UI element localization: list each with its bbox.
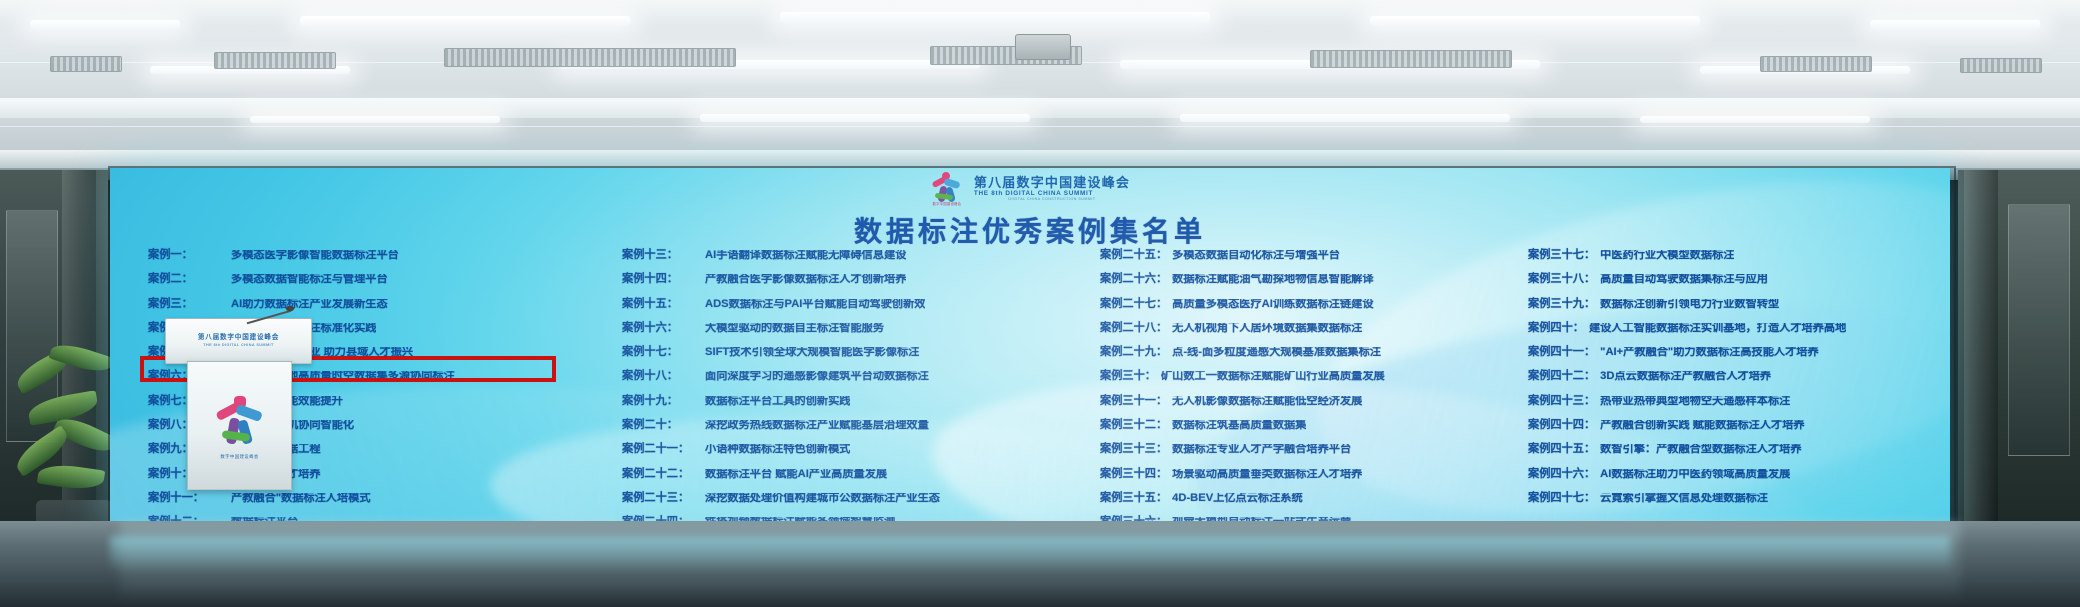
- case-title: SIFT技术引领全球大规模智能医学影像标注: [705, 347, 919, 358]
- case-number: 案例四十二：: [1528, 371, 1595, 382]
- case-title: 数据标注专业人才产学融合培养平台: [1172, 444, 1351, 455]
- case-number: 案例三十三：: [1100, 444, 1167, 455]
- case-number: 案例二十七：: [1100, 299, 1167, 310]
- case-row: 案例二十：深挖政务热线数据标注产业赋能基层治理效量: [622, 420, 1092, 444]
- case-row: 案例三十九：数据标注创新引领电力行业数智转型: [1528, 299, 1948, 323]
- podium: 第八届数字中国建设峰会 THE 8th DIGITAL CHINA SUMMIT…: [165, 318, 310, 488]
- ceiling-light: [780, 12, 1210, 23]
- case-number: 案例十一：: [148, 493, 226, 504]
- case-row: 案例十三：AI手语翻译数据标注赋能无障碍信息建设: [622, 250, 1092, 274]
- plant-leaf: [37, 462, 105, 493]
- case-title: 产教融合医学影像数据标注人才创新培养: [705, 274, 906, 285]
- case-row: 案例四十五：数智引擎：产教融合型数据标注人才培养: [1528, 444, 1948, 468]
- ceiling-vent: [444, 48, 736, 67]
- case-row: 案例二十九：点-线-面多粒度遥感大规模基准数据集标注: [1100, 347, 1520, 371]
- wall-panel: [2008, 204, 2070, 456]
- case-row: 案例二十八：无人机视角下人居环境数据集数据标注: [1100, 323, 1520, 347]
- case-number: 案例二十九：: [1100, 347, 1167, 358]
- case-list: 案例一：多模态医学影像智能数据标注平台案例二：多模态数据智能标注与管理平台案例三…: [110, 250, 1950, 536]
- case-number: 案例二十二：: [622, 469, 700, 480]
- case-row: 案例十七：SIFT技术引领全球大规模智能医学影像标注: [622, 347, 1092, 371]
- case-column-4: 案例三十七：中医药行业大模型数据标注案例三十八：高质量自动驾驶数据集标注与应用案…: [1528, 250, 1948, 517]
- case-number: 案例三十一：: [1100, 396, 1167, 407]
- ceiling-speaker: [1015, 34, 1071, 60]
- case-row: 案例三十一：无人机影像数据标注赋能低空经济发展: [1100, 396, 1520, 420]
- podium-title-cn: 第八届数字中国建设峰会: [166, 331, 311, 341]
- case-title: 多模态医学影像智能数据标注平台: [231, 250, 399, 261]
- case-title: 数据标注平台 赋能AI产业高质量发展: [705, 469, 887, 480]
- case-title: 数据标注创新引领电力行业数智转型: [1600, 299, 1779, 310]
- ceiling-vent: [1960, 58, 2042, 73]
- case-column-3: 案例二十五：多模态数据自动化标注与增强平台案例二十六：数据标注赋能油气勘探地物信…: [1100, 250, 1520, 538]
- case-title: 无人机影像数据标注赋能低空经济发展: [1172, 396, 1362, 407]
- case-title: 产教融合"数据标注人培模式: [231, 493, 371, 504]
- ceiling-light: [1180, 114, 1510, 122]
- case-number: 案例十四：: [622, 274, 700, 285]
- case-number: 案例四十五：: [1528, 444, 1595, 455]
- ceiling-light: [30, 20, 180, 29]
- case-title: 矿山数工一数据标注赋能矿山行业高质量发展: [1161, 371, 1385, 382]
- case-row: 案例三十四：场景驱动高质量垂类数据标注人才培养: [1100, 469, 1520, 493]
- ceiling-light: [1640, 116, 1870, 123]
- case-row: 案例二十五：多模态数据自动化标注与增强平台: [1100, 250, 1520, 274]
- case-number: 案例三十七：: [1528, 250, 1595, 261]
- case-row: 案例十六：大模型驱动的数据自主标注智能服务: [622, 323, 1092, 347]
- case-number: 案例一：: [148, 250, 226, 261]
- case-title: 场景驱动高质量垂类数据标注人才培养: [1172, 469, 1362, 480]
- summit-title-en: THE 8th DIGITAL CHINA SUMMIT: [974, 191, 1130, 198]
- case-title: 大模型驱动的数据自主标注智能服务: [705, 323, 884, 334]
- case-number: 案例十八：: [622, 371, 700, 382]
- case-row: 案例十五：ADS数据标注与PAI平台赋能自动驾驶创新效: [622, 299, 1092, 323]
- case-number: 案例三：: [148, 299, 226, 310]
- case-number: 案例二十一：: [622, 444, 700, 455]
- led-screen: 数字中国建设峰会 第八届数字中国建设峰会 THE 8th DIGITAL CHI…: [110, 168, 1950, 538]
- case-number: 案例十五：: [622, 299, 700, 310]
- digital-china-summit-logo-icon: 数字中国建设峰会: [930, 172, 964, 206]
- logo-caption: 数字中国建设峰会: [929, 201, 965, 206]
- case-number: 案例四十：: [1528, 323, 1584, 334]
- case-row: 案例二：多模态数据智能标注与管理平台: [148, 274, 568, 298]
- case-number: 案例二：: [148, 274, 226, 285]
- case-number: 案例三十四：: [1100, 469, 1167, 480]
- ceiling-vent: [50, 56, 122, 72]
- case-title: 3D点云数据标注产教融合人才培养: [1600, 371, 1771, 382]
- screen-floor-reflection: [110, 536, 1950, 572]
- case-row: 案例十四：产教融合医学影像数据标注人才创新培养: [622, 274, 1092, 298]
- case-row: 案例三十：矿山数工一数据标注赋能矿山行业高质量发展: [1100, 371, 1520, 395]
- ceiling-vent: [1760, 56, 1872, 72]
- case-row: 案例四十：建设人工智能数据标注实训基地，打造人才培养高地: [1528, 323, 1948, 347]
- case-row: 案例四十三：热带亚热带典型地物空天遥感样本标注: [1528, 396, 1948, 420]
- page-title: 数据标注优秀案例集名单: [110, 210, 1950, 250]
- case-title: 小语种数据标注特色创新模式: [705, 444, 850, 455]
- ceiling-vent: [214, 52, 336, 69]
- podium-emblem-caption: 数字中国建设峰会: [188, 454, 291, 460]
- case-title: 面向深度学习的遥感影像建筑平台动数据标注: [705, 371, 929, 382]
- case-number: 案例十七：: [622, 347, 700, 358]
- case-row: 案例四十一："AI+产教融合"助力数据标注高技能人才培养: [1528, 347, 1948, 371]
- podium-title-en: THE 8th DIGITAL CHINA SUMMIT: [166, 343, 311, 347]
- case-title: 数据标注赋能油气勘探地物信息智能解译: [1172, 274, 1373, 285]
- case-row: 案例二十二：数据标注平台 赋能AI产业高质量发展: [622, 469, 1092, 493]
- case-title: 产教融合创新实践 赋能数据标注人才培养: [1600, 420, 1804, 431]
- case-number: 案例四十三：: [1528, 396, 1595, 407]
- case-title: AI数据标注助力中医药领域高质量发展: [1600, 469, 1790, 480]
- ceiling-panel-line: [0, 126, 2080, 127]
- microphone: [246, 300, 296, 326]
- case-row: 案例二十一：小语种数据标注特色创新模式: [622, 444, 1092, 468]
- ceiling-light: [300, 16, 630, 26]
- case-column-2: 案例十三：AI手语翻译数据标注赋能无障碍信息建设案例十四：产教融合医学影像数据标…: [622, 250, 1092, 538]
- case-number: 案例十六：: [622, 323, 700, 334]
- case-row: 案例四十四：产教融合创新实践 赋能数据标注人才培养: [1528, 420, 1948, 444]
- case-title: 数据标注平台工具的创新实践: [705, 396, 850, 407]
- case-row: 案例四十六：AI数据标注助力中医药领域高质量发展: [1528, 469, 1948, 493]
- case-title: 热带亚热带典型地物空天遥感样本标注: [1600, 396, 1790, 407]
- ceiling-vent: [1310, 50, 1512, 68]
- microphone-head: [286, 306, 294, 311]
- case-row: 案例二十三：深挖数据处理价值构建城市公数据标注产业生态: [622, 493, 1092, 517]
- case-title: 数据标注筑基高质量数据集: [1172, 420, 1306, 431]
- case-number: 案例二十五：: [1100, 250, 1167, 261]
- ceiling-band-mid: [0, 98, 2080, 118]
- summit-title-cn: 第八届数字中国建设峰会: [974, 176, 1130, 190]
- case-row: 案例三十七：中医药行业大模型数据标注: [1528, 250, 1948, 274]
- case-row: 案例十九：数据标注平台工具的创新实践: [622, 396, 1092, 420]
- case-row: 案例二十六：数据标注赋能油气勘探地物信息智能解译: [1100, 274, 1520, 298]
- case-title: 多模态数据自动化标注与增强平台: [1172, 250, 1340, 261]
- case-title: 多模态数据智能标注与管理平台: [231, 274, 388, 285]
- case-title: "AI+产教融合"助力数据标注高技能人才培养: [1600, 347, 1819, 358]
- case-number: 案例四十一：: [1528, 347, 1595, 358]
- case-title: AI手语翻译数据标注赋能无障碍信息建设: [705, 250, 906, 261]
- case-number: 案例三十五：: [1100, 493, 1167, 504]
- case-number: 案例二十：: [622, 420, 700, 431]
- summit-wordmark: 第八届数字中国建设峰会 THE 8th DIGITAL CHINA SUMMIT…: [974, 176, 1130, 202]
- case-title: 深挖数据处理价值构建城市公数据标注产业生态: [705, 493, 940, 504]
- case-title: 云霓索引掌握文信息处理数据标注: [1600, 493, 1768, 504]
- ceiling-light: [250, 116, 500, 123]
- screenshot-root: 数字中国建设峰会 第八届数字中国建设峰会 THE 8th DIGITAL CHI…: [0, 0, 2080, 607]
- case-title: 高质量多模态医疗AI训练数据标注链建设: [1172, 299, 1373, 310]
- case-title: 数智引擎：产教融合型数据标注人才培养: [1600, 444, 1801, 455]
- ceiling-light: [700, 114, 1030, 122]
- case-title: 点-线-面多粒度遥感大规模基准数据集标注: [1172, 347, 1381, 358]
- case-number: 案例四十六：: [1528, 469, 1595, 480]
- case-title: ADS数据标注与PAI平台赋能自动驾驶创新效: [705, 299, 925, 310]
- case-row: 案例十八：面向深度学习的遥感影像建筑平台动数据标注: [622, 371, 1092, 395]
- case-row: 案例一：多模态医学影像智能数据标注平台: [148, 250, 568, 274]
- case-row: 案例三十五：4D-BEV上亿点云标注系统: [1100, 493, 1520, 517]
- podium-body: 数字中国建设峰会: [187, 361, 292, 490]
- summit-title-en-sub: DIGITAL CHINA CONSTRUCTION SUMMIT: [974, 198, 1130, 202]
- case-row: 案例二十七：高质量多模态医疗AI训练数据标注链建设: [1100, 299, 1520, 323]
- case-row: 案例十一：产教融合"数据标注人培模式: [148, 493, 568, 517]
- case-title: 深挖政务热线数据标注产业赋能基层治理效量: [705, 420, 929, 431]
- podium-emblem-icon: [214, 396, 266, 448]
- case-row: 案例三十二：数据标注筑基高质量数据集: [1100, 420, 1520, 444]
- case-title: 无人机视角下人居环境数据集数据标注: [1172, 323, 1362, 334]
- case-title: 中医药行业大模型数据标注: [1600, 250, 1734, 261]
- case-title: 高质量自动驾驶数据集标注与应用: [1600, 274, 1768, 285]
- ceiling-light: [1870, 20, 2040, 29]
- ceiling-light: [1370, 16, 1700, 26]
- case-number: 案例三十八：: [1528, 274, 1595, 285]
- case-number: 案例三十九：: [1528, 299, 1595, 310]
- case-row: 案例三十三：数据标注专业人才产学融合培养平台: [1100, 444, 1520, 468]
- case-title: 4D-BEV上亿点云标注系统: [1172, 493, 1303, 504]
- summit-header: 数字中国建设峰会 第八届数字中国建设峰会 THE 8th DIGITAL CHI…: [110, 172, 1950, 206]
- case-number: 案例三十：: [1100, 371, 1156, 382]
- case-row: 案例四十七：云霓索引掌握文信息处理数据标注: [1528, 493, 1948, 517]
- case-number: 案例十三：: [622, 250, 700, 261]
- case-number: 案例四十四：: [1528, 420, 1595, 431]
- case-number: 案例三十二：: [1100, 420, 1167, 431]
- case-number: 案例二十八：: [1100, 323, 1167, 334]
- case-number: 案例四十七：: [1528, 493, 1595, 504]
- case-row: 案例三十八：高质量自动驾驶数据集标注与应用: [1528, 274, 1948, 298]
- case-number: 案例二十六：: [1100, 274, 1167, 285]
- case-title: 建设人工智能数据标注实训基地，打造人才培养高地: [1589, 323, 1846, 334]
- case-row: 案例四十二：3D点云数据标注产教融合人才培养: [1528, 371, 1948, 395]
- case-number: 案例二十三：: [622, 493, 700, 504]
- microphone-stem: [247, 310, 292, 324]
- ceiling: [0, 0, 2080, 178]
- case-number: 案例十九：: [622, 396, 700, 407]
